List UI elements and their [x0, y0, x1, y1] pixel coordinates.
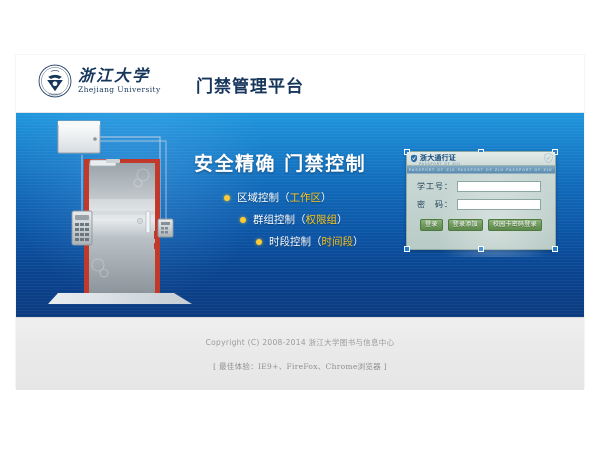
feature-label: 区域控制（ — [237, 190, 290, 205]
feature-list: 区域控制（工作区） 群组控制（权限组） 时段控制（时间段） — [194, 190, 414, 249]
login-panel-strip: PASSPORT OF ZJU PASSPORT OF ZJU PASSPORT… — [407, 166, 555, 174]
login-button[interactable]: 登录 — [420, 219, 443, 231]
shield-watermark-icon — [544, 153, 553, 163]
feature-label: 时段控制（ — [269, 234, 322, 249]
bullet-dot-icon — [240, 217, 246, 223]
site-footer: Copyright (C) 2008-2014 浙江大学图书与信息中心 [ 最佳… — [16, 317, 584, 390]
hero-headline: 安全精确 门禁控制 — [194, 149, 414, 176]
login-form: 学工号： 密 码： 登录 登录添加 校园卡密码登录 — [407, 174, 555, 257]
brand-name-cn: 浙江大学 — [78, 68, 161, 84]
feature-item-time-control: 时段控制（时间段） — [256, 234, 414, 249]
feature-item-area-control: 区域控制（工作区） — [224, 190, 414, 205]
brand-wordmark: 浙江大学 Zhejiang University — [78, 68, 161, 94]
campus-card-login-button[interactable]: 校园卡密码登录 — [488, 219, 542, 231]
login-button-row: 登录 登录添加 校园卡密码登录 — [407, 219, 555, 231]
zju-seal-icon: ZHEJIANG — [38, 64, 72, 98]
brand-logo[interactable]: ZHEJIANG 浙江大学 Zhejiang University — [38, 64, 161, 98]
brand-name-en: Zhejiang University — [78, 86, 161, 94]
svg-text:ZHEJIANG: ZHEJIANG — [48, 93, 61, 96]
userid-input[interactable] — [457, 181, 541, 192]
password-input[interactable] — [457, 199, 541, 210]
feature-suffix: ） — [353, 234, 364, 249]
hero-copy: 安全精确 门禁控制 区域控制（工作区） 群组控制（权限组） 时段控制（时间段） — [194, 149, 414, 256]
feature-highlight: 权限组 — [306, 212, 338, 227]
form-row-password: 密 码： — [407, 199, 555, 210]
feature-item-group-control: 群组控制（权限组） — [240, 212, 414, 227]
shield-icon — [410, 154, 418, 163]
feature-suffix: ） — [337, 212, 348, 227]
hero-banner: 安全精确 门禁控制 区域控制（工作区） 群组控制（权限组） 时段控制（时间段） — [16, 113, 584, 317]
screenshot-root: ZHEJIANG 浙江大学 Zhejiang University 门禁管理平台 — [0, 0, 600, 450]
bullet-dot-icon — [256, 239, 262, 245]
site-header: ZHEJIANG 浙江大学 Zhejiang University 门禁管理平台 — [16, 55, 584, 113]
login-add-button[interactable]: 登录添加 — [448, 219, 483, 231]
login-panel-title: 浙大通行证 — [420, 155, 456, 162]
login-panel: 浙大通行证 PASSPORT OF ZJU PASSPORT OF ZJU PA… — [406, 151, 556, 250]
userid-label: 学工号： — [417, 181, 457, 192]
login-panel-titlebar: 浙大通行证 PASSPORT OF ZJU — [407, 152, 555, 166]
form-row-userid: 学工号： — [407, 181, 555, 192]
feature-suffix: ） — [321, 190, 332, 205]
feature-highlight: 工作区 — [290, 190, 322, 205]
footer-copyright: Copyright (C) 2008-2014 浙江大学图书与信息中心 — [16, 318, 584, 348]
bullet-dot-icon — [224, 195, 230, 201]
feature-highlight: 时间段 — [322, 234, 354, 249]
page-card: ZHEJIANG 浙江大学 Zhejiang University 门禁管理平台 — [16, 55, 584, 388]
feature-label: 群组控制（ — [253, 212, 306, 227]
password-label: 密 码： — [417, 199, 457, 210]
page-title: 门禁管理平台 — [196, 72, 304, 97]
footer-browser-note: [ 最佳体验：IE9+、FireFox、Chrome浏览器 ] — [16, 348, 584, 372]
login-panel-subtitle: PASSPORT OF ZJU — [419, 162, 461, 166]
access-control-door-illustration — [42, 115, 202, 310]
strip-repeating-text: PASSPORT OF ZJU PASSPORT OF ZJU PASSPORT… — [407, 168, 555, 172]
